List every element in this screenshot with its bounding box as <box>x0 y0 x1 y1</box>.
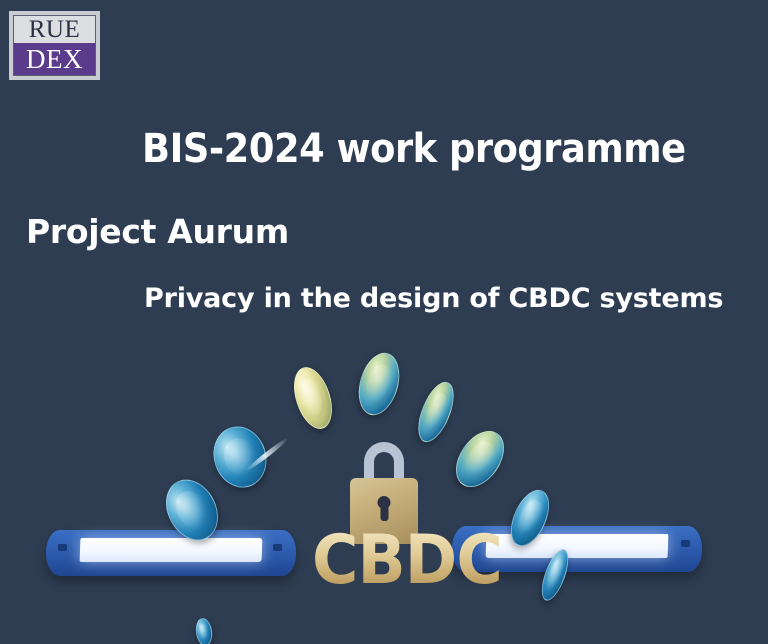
page-title: BIS-2024 work programme <box>142 126 686 172</box>
logo-text-rue: RUE <box>14 16 95 43</box>
coin-face <box>297 376 329 420</box>
coin-face <box>170 486 215 535</box>
project-title: Project Aurum <box>26 212 289 251</box>
coin-face <box>421 390 451 433</box>
cbdc-wordmark: CBDC <box>312 527 502 595</box>
padlock-keyhole <box>378 496 391 509</box>
coin-9 <box>194 617 214 644</box>
cbdc-transfer-illustration: CBDC <box>0 330 768 644</box>
phone-left-camera-icon <box>58 544 67 551</box>
coin-face <box>362 362 395 406</box>
phone-left-screen <box>80 538 263 562</box>
coin-face <box>219 434 261 480</box>
coin-4 <box>352 348 406 420</box>
slide-canvas: RUE DEX BIS-2024 work programme Project … <box>0 0 768 644</box>
logo-frame: RUE DEX <box>13 15 96 76</box>
logo-text-dex: DEX <box>14 43 95 75</box>
ruedex-logo[interactable]: RUE DEX <box>9 11 100 80</box>
coin-face <box>459 436 501 481</box>
phone-right-sensor-icon <box>681 540 690 547</box>
phone-left <box>46 530 296 576</box>
coin-6 <box>446 422 514 496</box>
coin-face <box>198 623 209 641</box>
coin-3 <box>287 362 339 433</box>
coin-5 <box>411 377 461 447</box>
page-subtitle: Privacy in the design of CBDC systems <box>144 283 723 314</box>
phone-left-sensor-icon <box>273 544 282 551</box>
